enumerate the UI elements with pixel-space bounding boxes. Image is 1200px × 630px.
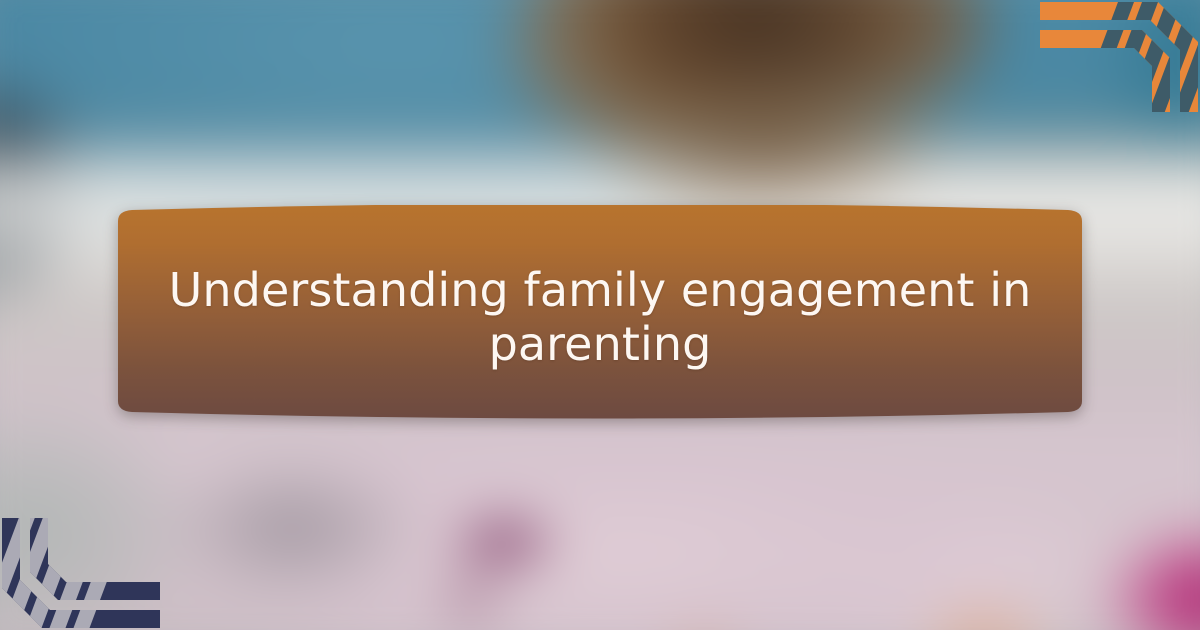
page-title: Understanding family engagement in paren… xyxy=(100,205,1100,425)
share-card-canvas: Understanding family engagement in paren… xyxy=(0,0,1200,630)
title-banner: Understanding family engagement in paren… xyxy=(100,205,1100,425)
